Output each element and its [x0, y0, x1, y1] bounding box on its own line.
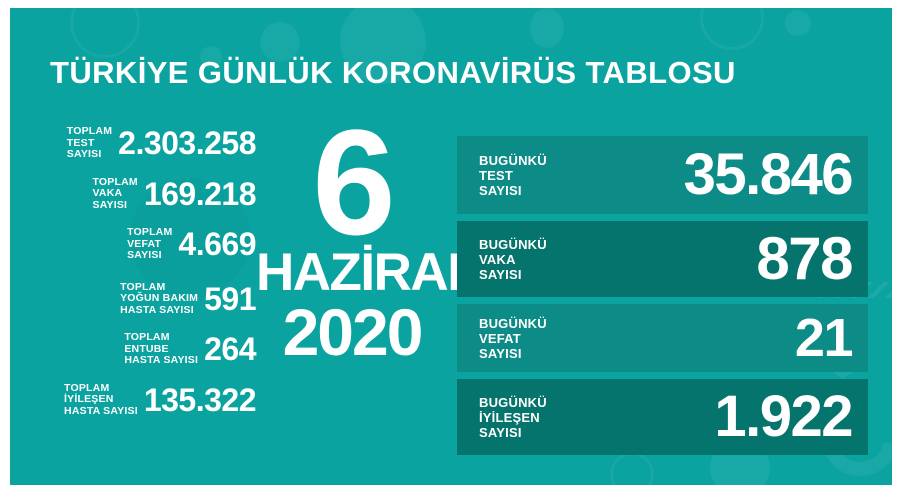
- total-row-test: TOPLAM TEST SAYISI 2.303.258: [28, 126, 256, 161]
- label-line: İYİLEŞEN: [64, 394, 138, 406]
- page-title: TÜRKİYE GÜNLÜK KORONAVİRÜS TABLOSU: [50, 55, 736, 91]
- total-row-vaka-label: TOPLAM VAKA SAYISI: [92, 177, 143, 212]
- total-row-vaka: TOPLAM VAKA SAYISI 169.218: [28, 177, 256, 212]
- label-line: YOĞUN BAKIM: [120, 293, 198, 305]
- label-line: İYİLEŞEN: [479, 410, 547, 425]
- daily-box-iyilesen: BUGÜNKÜ İYİLEŞEN SAYISI 1.922: [457, 379, 868, 455]
- label-line: SAYISI: [479, 425, 547, 440]
- total-row-vefat: TOPLAM VEFAT SAYISI 4.669: [28, 227, 256, 262]
- label-line: HASTA SAYISI: [64, 406, 138, 418]
- total-row-entube-label: TOPLAM ENTUBE HASTA SAYISI: [124, 332, 204, 367]
- daily-box-test-value: 35.846: [684, 146, 852, 204]
- daily-box-iyilesen-value: 1.922: [714, 388, 852, 446]
- date-day: 6: [256, 118, 448, 246]
- label-line: SAYISI: [127, 250, 172, 262]
- daily-box-vaka-label: BUGÜNKÜ VAKA SAYISI: [479, 237, 547, 282]
- virus-particle-icon: [530, 8, 564, 48]
- label-line: HASTA SAYISI: [120, 305, 198, 317]
- infographic-board: ✦ ✦ TÜRKİYE GÜNLÜK KORONAVİRÜS TABLOSU T…: [0, 0, 908, 493]
- label-line: TOPLAM: [124, 332, 198, 344]
- date-year: 2020: [256, 300, 448, 364]
- total-row-iyilesen: TOPLAM İYİLEŞEN HASTA SAYISI 135.322: [28, 383, 256, 418]
- total-row-yogun-bakim: TOPLAM YOĞUN BAKIM HASTA SAYISI 591: [28, 282, 256, 317]
- daily-column: BUGÜNKÜ TEST SAYISI 35.846 BUGÜNKÜ VAKA …: [457, 136, 868, 455]
- label-line: BUGÜNKÜ: [479, 316, 547, 331]
- total-row-iyilesen-label: TOPLAM İYİLEŞEN HASTA SAYISI: [64, 383, 144, 418]
- virus-particle-icon: [785, 10, 811, 36]
- label-line: TEST: [479, 168, 547, 183]
- total-row-yogun-bakim-label: TOPLAM YOĞUN BAKIM HASTA SAYISI: [120, 282, 204, 317]
- total-row-yogun-bakim-value: 591: [204, 282, 256, 316]
- label-line: HASTA SAYISI: [124, 355, 198, 367]
- label-line: VEFAT: [479, 331, 547, 346]
- label-line: SAYISI: [67, 149, 112, 161]
- total-row-iyilesen-value: 135.322: [144, 383, 256, 417]
- total-row-vaka-value: 169.218: [144, 177, 256, 211]
- daily-box-vefat: BUGÜNKÜ VEFAT SAYISI 21: [457, 304, 868, 372]
- daily-box-vefat-value: 21: [795, 311, 852, 365]
- daily-box-vaka-value: 878: [756, 229, 852, 289]
- label-line: VAKA: [479, 252, 547, 267]
- label-line: BUGÜNKÜ: [479, 153, 547, 168]
- daily-box-vefat-label: BUGÜNKÜ VEFAT SAYISI: [479, 316, 547, 361]
- total-row-entube: TOPLAM ENTUBE HASTA SAYISI 264: [28, 332, 256, 367]
- label-line: SAYISI: [479, 267, 547, 282]
- label-line: SAYISI: [479, 346, 547, 361]
- teal-canvas: ✦ ✦ TÜRKİYE GÜNLÜK KORONAVİRÜS TABLOSU T…: [10, 8, 892, 485]
- label-line: TOPLAM: [127, 227, 172, 239]
- label-line: BUGÜNKÜ: [479, 237, 547, 252]
- label-line: BUGÜNKÜ: [479, 395, 547, 410]
- total-row-vefat-label: TOPLAM VEFAT SAYISI: [127, 227, 178, 262]
- virus-particle-icon: [700, 8, 764, 50]
- date-block: 6 HAZİRAN 2020: [256, 118, 448, 364]
- label-line: VAKA: [92, 188, 137, 200]
- virus-particle-icon: [610, 452, 654, 485]
- label-line: SAYISI: [92, 200, 137, 212]
- virus-particle-icon: [70, 8, 140, 58]
- daily-box-test-label: BUGÜNKÜ TEST SAYISI: [479, 153, 547, 198]
- daily-box-vaka: BUGÜNKÜ VAKA SAYISI 878: [457, 221, 868, 297]
- label-line: TOPLAM: [67, 126, 112, 138]
- total-row-test-value: 2.303.258: [118, 126, 256, 160]
- total-row-test-label: TOPLAM TEST SAYISI: [67, 126, 118, 161]
- totals-column: TOPLAM TEST SAYISI 2.303.258 TOPLAM VAKA…: [28, 126, 256, 426]
- label-line: SAYISI: [479, 183, 547, 198]
- total-row-entube-value: 264: [204, 332, 256, 366]
- daily-box-test: BUGÜNKÜ TEST SAYISI 35.846: [457, 136, 868, 214]
- date-month: HAZİRAN: [256, 246, 448, 300]
- total-row-vefat-value: 4.669: [178, 227, 256, 261]
- daily-box-iyilesen-label: BUGÜNKÜ İYİLEŞEN SAYISI: [479, 395, 547, 440]
